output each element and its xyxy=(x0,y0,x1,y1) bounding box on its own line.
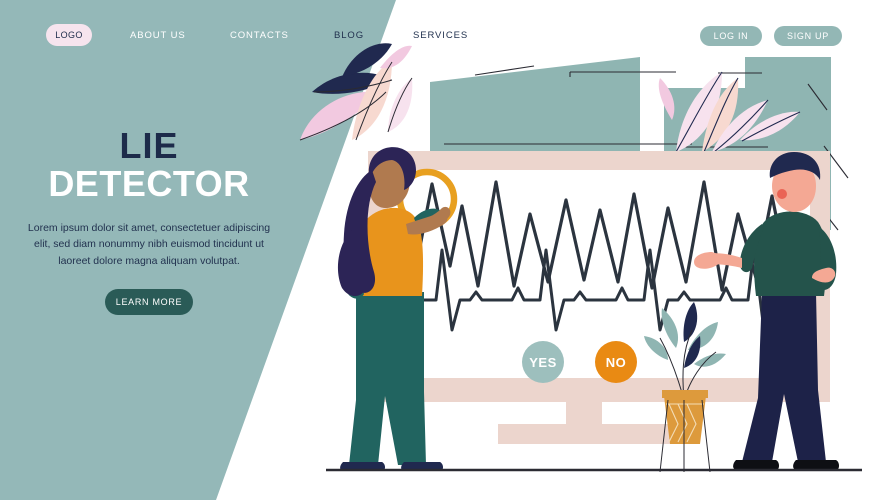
badge-yes[interactable]: YES xyxy=(522,341,564,383)
nav-link-services[interactable]: SERVICES xyxy=(413,30,468,41)
signup-button[interactable]: SIGN UP xyxy=(774,26,842,46)
hero-paragraph: Lorem ipsum dolor sit amet, consectetuer… xyxy=(24,220,274,269)
title-line-2: DETECTOR xyxy=(24,166,274,202)
monitor-base xyxy=(498,424,670,444)
landing-page: YES NO LOGO ABOUT US CONTACTS BLOG SERVI… xyxy=(0,0,889,500)
nav-link-about-us[interactable]: ABOUT US xyxy=(130,30,186,41)
title-line-1: LIE xyxy=(24,128,274,164)
nav-link-contacts[interactable]: CONTACTS xyxy=(230,30,289,41)
login-button[interactable]: LOG IN xyxy=(700,26,762,46)
logo[interactable]: LOGO xyxy=(46,24,92,46)
hero-section: LIE DETECTOR Lorem ipsum dolor sit amet,… xyxy=(24,128,274,315)
navbar: LOGO ABOUT US CONTACTS BLOG SERVICES LOG… xyxy=(0,0,889,62)
learn-more-button[interactable]: LEARN MORE xyxy=(105,289,193,315)
badge-no[interactable]: NO xyxy=(595,341,637,383)
nav-link-blog[interactable]: BLOG xyxy=(334,30,364,41)
page-title: LIE DETECTOR xyxy=(24,128,274,202)
